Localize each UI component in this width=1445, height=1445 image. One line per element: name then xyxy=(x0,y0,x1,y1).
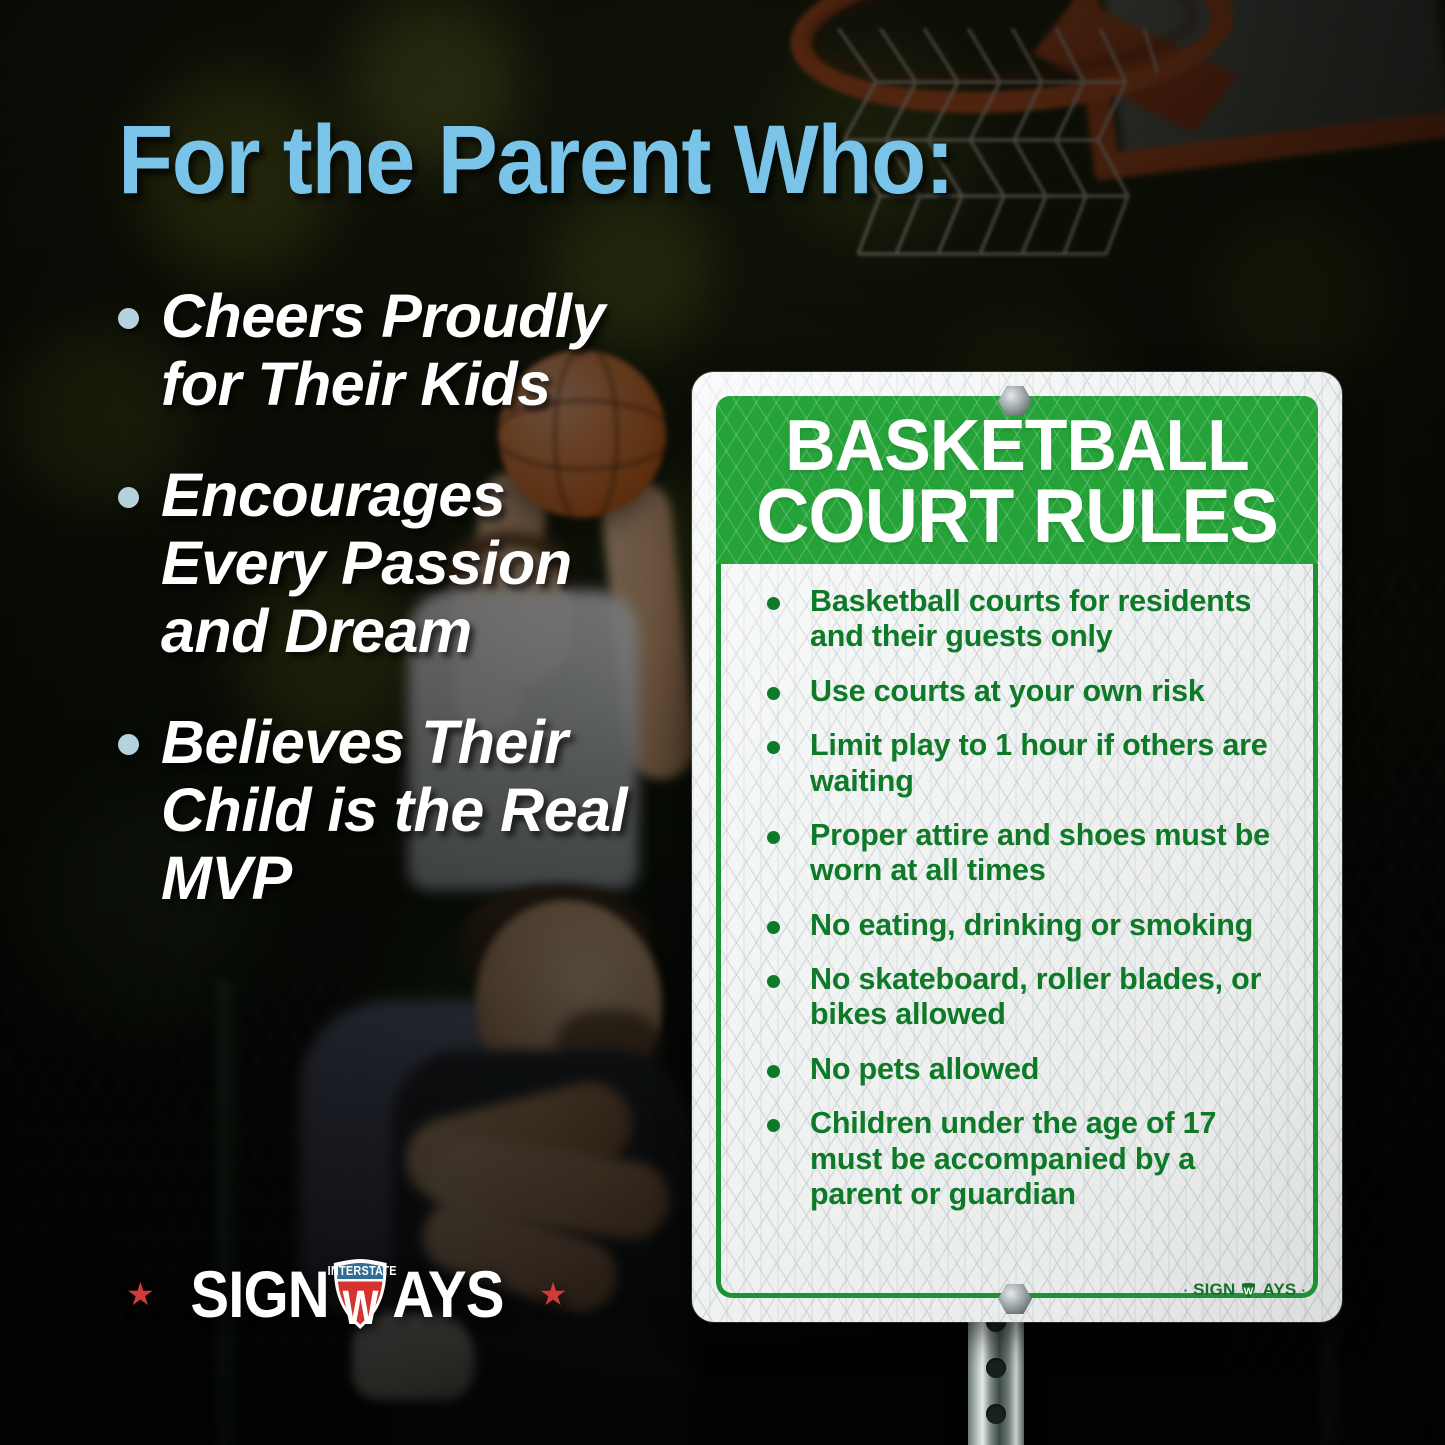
rule-label: No skateboard, roller blades, or bikes a… xyxy=(810,962,1299,1033)
rule-label: Children under the age of 17 must be acc… xyxy=(810,1106,1299,1212)
sign-title-line2: COURT RULES xyxy=(735,481,1300,554)
list-item: Believes Their Child is the Real MVP xyxy=(118,708,678,913)
bullet-dot-icon xyxy=(118,487,139,508)
sign-rules-box: Basketball courts for residents and thei… xyxy=(716,564,1318,1298)
rule-item: Use courts at your own risk xyxy=(729,674,1299,709)
brand-text-ays: AYS xyxy=(392,1256,503,1332)
rule-label: No pets allowed xyxy=(810,1052,1045,1087)
list-item-label: Encourages Every Passion and Dream xyxy=(161,461,678,666)
bullet-dot-icon xyxy=(118,308,139,329)
rule-bullet-icon xyxy=(767,687,780,700)
promo-graphic: For the Parent Who: Cheers Proudly for T… xyxy=(0,0,1445,1445)
brand-text-sign: SIGN xyxy=(190,1256,328,1332)
rule-item: No pets allowed xyxy=(729,1052,1299,1087)
rule-bullet-icon xyxy=(767,921,780,934)
star-icon-left: ★ xyxy=(126,1278,155,1310)
list-item-label: Believes Their Child is the Real MVP xyxy=(161,708,678,913)
rule-label: Limit play to 1 hour if others are waiti… xyxy=(810,728,1299,799)
list-item: Encourages Every Passion and Dream xyxy=(118,461,678,666)
rule-item: Basketball courts for residents and thei… xyxy=(729,584,1299,655)
rule-label: No eating, drinking or smoking xyxy=(810,908,1259,943)
page-title: For the Parent Who: xyxy=(118,104,953,216)
signways-logo: ★ SIGN INTERSTATE W AYS ★ xyxy=(126,1255,567,1333)
brand-wordmark: SIGN INTERSTATE W AYS xyxy=(190,1255,503,1333)
svg-text:W: W xyxy=(1244,1286,1254,1297)
shield-letter: W xyxy=(329,1281,391,1336)
rule-bullet-icon xyxy=(767,741,780,754)
rule-item: Limit play to 1 hour if others are waiti… xyxy=(729,728,1299,799)
interstate-shield-icon: INTERSTATE W xyxy=(326,1255,395,1333)
post-hole xyxy=(986,1404,1006,1424)
bullet-dot-icon xyxy=(118,734,139,755)
rule-label: Basketball courts for residents and thei… xyxy=(810,584,1299,655)
rule-bullet-icon xyxy=(767,1119,780,1132)
sign-content: BASKETBALL COURT RULES Basketball courts… xyxy=(716,396,1318,1298)
sign-signways-mark: · SIGN W AYS · xyxy=(1184,1280,1306,1300)
rule-bullet-icon xyxy=(767,831,780,844)
rule-item: No skateboard, roller blades, or bikes a… xyxy=(729,962,1299,1033)
rule-label: Use courts at your own risk xyxy=(810,674,1211,709)
rule-bullet-icon xyxy=(767,975,780,988)
shield-banner-label: INTERSTATE xyxy=(328,1263,393,1278)
rule-item: Proper attire and shoes must be worn at … xyxy=(729,818,1299,889)
rule-label: Proper attire and shoes must be worn at … xyxy=(810,818,1299,889)
rule-bullet-icon xyxy=(767,597,780,610)
mark-text-sign: SIGN xyxy=(1193,1280,1235,1300)
mark-star-left: · xyxy=(1184,1283,1189,1298)
list-item: Cheers Proudly for Their Kids xyxy=(118,282,678,419)
rule-item: Children under the age of 17 must be acc… xyxy=(729,1106,1299,1212)
mark-shield-icon: W xyxy=(1240,1282,1257,1299)
post-hole xyxy=(986,1358,1006,1378)
sign-header: BASKETBALL COURT RULES xyxy=(716,396,1318,564)
rule-bullet-icon xyxy=(767,1065,780,1078)
list-item-label: Cheers Proudly for Their Kids xyxy=(161,282,678,419)
mark-text-ays: AYS xyxy=(1262,1280,1296,1300)
sign-title: BASKETBALL COURT RULES xyxy=(735,412,1300,554)
benefit-list: Cheers Proudly for Their Kids Encourages… xyxy=(118,282,678,955)
rule-item: No eating, drinking or smoking xyxy=(729,908,1299,943)
star-icon-right: ★ xyxy=(539,1278,568,1310)
mark-star-right: · xyxy=(1301,1283,1306,1298)
basketball-court-rules-sign: BASKETBALL COURT RULES Basketball courts… xyxy=(692,372,1342,1322)
